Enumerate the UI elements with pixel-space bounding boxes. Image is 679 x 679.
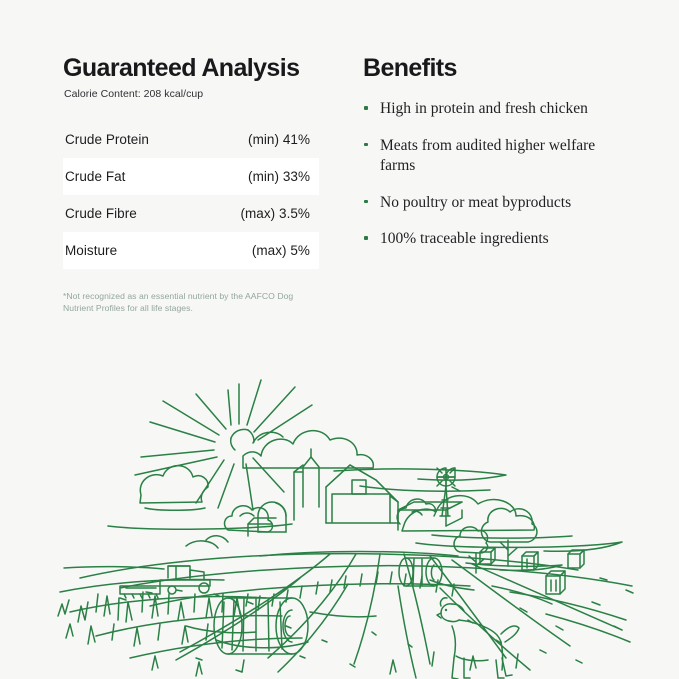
benefits-list: High in protein and fresh chicken Meats … — [363, 99, 633, 250]
bullet-icon — [364, 200, 368, 204]
barn-group — [248, 449, 462, 536]
field-lines — [60, 552, 633, 679]
bullet-icon — [364, 236, 368, 240]
bullet-icon — [364, 106, 368, 110]
nutrient-value: (max) 5% — [252, 243, 310, 258]
benefit-text: High in protein and fresh chicken — [380, 100, 588, 117]
dog-icon — [437, 598, 519, 679]
guaranteed-analysis-title: Guaranteed Analysis — [63, 55, 319, 82]
nutrient-value: (min) 41% — [248, 132, 310, 147]
benefit-text: Meats from audited higher welfare farms — [380, 137, 595, 175]
table-row: Crude Fibre (max) 3.5% — [63, 195, 319, 232]
nutrient-label: Crude Protein — [65, 132, 149, 147]
table-row: Crude Fat (min) 33% — [63, 158, 319, 195]
aafco-footnote: *Not recognized as an essential nutrient… — [63, 290, 298, 314]
table-row: Crude Protein (min) 41% — [63, 121, 319, 158]
table-row: Moisture (max) 5% — [63, 232, 319, 269]
list-item: No poultry or meat byproducts — [363, 193, 633, 214]
benefits-section: Benefits High in protein and fresh chick… — [363, 55, 633, 250]
benefits-title: Benefits — [363, 55, 633, 82]
sun-icon — [135, 380, 312, 510]
guaranteed-analysis-section: Guaranteed Analysis Calorie Content: 208… — [63, 55, 319, 314]
calorie-content-text: Calorie Content: 208 kcal/cup — [64, 88, 319, 100]
nutrient-label: Moisture — [65, 243, 117, 258]
list-item: High in protein and fresh chicken — [363, 99, 633, 120]
tree-group — [186, 499, 537, 573]
product-info-page: Guaranteed Analysis Calorie Content: 208… — [0, 0, 679, 679]
nutrient-value: (min) 33% — [248, 169, 310, 184]
path-accents — [186, 580, 552, 633]
bullet-icon — [364, 143, 368, 147]
benefit-text: 100% traceable ingredients — [380, 230, 549, 247]
nutrient-value: (max) 3.5% — [240, 206, 310, 221]
nutrient-label: Crude Fat — [65, 169, 125, 184]
cloud-group — [108, 431, 622, 571]
list-item: Meats from audited higher welfare farms — [363, 136, 633, 177]
round-hay-bale-large — [214, 598, 308, 654]
farm-illustration — [0, 340, 679, 679]
guaranteed-analysis-table: Crude Protein (min) 41% Crude Fat (min) … — [63, 121, 319, 269]
benefit-text: No poultry or meat byproducts — [380, 194, 571, 211]
nutrient-label: Crude Fibre — [65, 206, 137, 221]
list-item: 100% traceable ingredients — [363, 229, 633, 250]
